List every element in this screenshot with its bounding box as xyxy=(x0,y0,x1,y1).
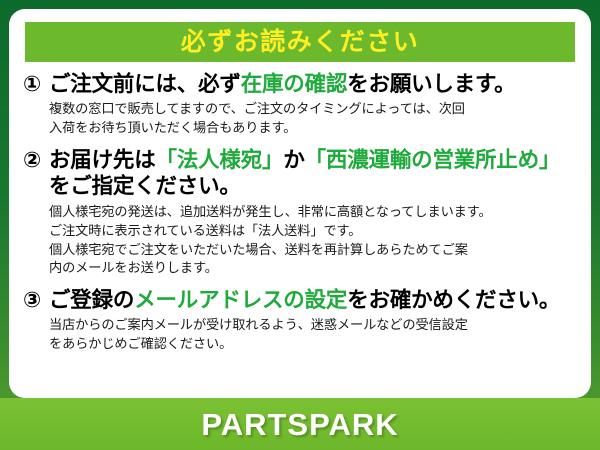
header-banner: 必ずお読みください xyxy=(25,22,575,62)
notice-item-1: ①ご注文前には、必ず在庫の確認をお願いします。 複数の窓口で販売してますので、ご… xyxy=(23,71,579,138)
notice-list: ①ご注文前には、必ず在庫の確認をお願いします。 複数の窓口で販売してますので、ご… xyxy=(9,71,591,354)
notice-item-1-heading-part-2: をお願いします。 xyxy=(347,72,515,96)
notice-item-3: ③ご登録のメールアドレスの設定をお確かめください。 当店からのご案内メールが受け… xyxy=(23,287,579,354)
notice-item-2-body-line-1: ご注文時に表示されている送料は「法人送料」です。 xyxy=(49,222,579,241)
notice-item-1-number: ① xyxy=(23,71,49,97)
notice-item-3-heading: ③ご登録のメールアドレスの設定をお確かめください。 xyxy=(23,287,579,313)
footer-banner: PARTSPARK xyxy=(0,398,600,450)
notice-item-3-body: 当店からのご案内メールが受け取れるよう、迷惑メールなどの受信設定 をあらかじめご… xyxy=(23,316,579,353)
brand-logo: PARTSPARK xyxy=(201,409,398,440)
notice-item-1-body: 複数の窓口で販売してますので、ご注文のタイミングによっては、次回 入荷をお待ち頂… xyxy=(23,100,579,137)
notice-item-2-body: 個人様宅宛の発送は、追加送料が発生し、非常に高額となってしまいます。 ご注文時に… xyxy=(23,203,579,278)
notice-item-3-number: ③ xyxy=(23,287,49,313)
notice-item-2-heading-part-1: 「法人様宛」 xyxy=(156,148,284,172)
notice-item-2-number: ② xyxy=(23,147,49,173)
notice-item-2-heading-part-3: 「西濃運輸の営業所止め」 xyxy=(305,148,561,172)
notice-item-3-heading-part-2: をお確かめください。 xyxy=(347,288,560,312)
notice-item-2-body-line-2: 個人様宅宛でご注文をいただいた場合、送料を再計算しあらためてご案 xyxy=(49,241,579,260)
notice-item-1-heading-part-0: ご注文前には、必ず xyxy=(49,72,241,96)
page-title: 必ずお読みください xyxy=(181,30,420,55)
notice-item-1-body-line-1: 入荷をお待ち頂いただく場合もあります。 xyxy=(49,119,579,138)
notice-item-2: ②お届け先は「法人様宛」か「西濃運輸の営業所止め」をご指定ください。 個人様宅宛… xyxy=(23,147,579,278)
notice-card: 必ずお読みください ①ご注文前には、必ず在庫の確認をお願いします。 複数の窓口で… xyxy=(0,0,600,450)
notice-item-3-body-line-1: をあらかじめご確認ください。 xyxy=(49,335,579,354)
notice-item-3-heading-part-1: メールアドレスの設定 xyxy=(134,288,347,312)
notice-panel: 必ずお読みください ①ご注文前には、必ず在庫の確認をお願いします。 複数の窓口で… xyxy=(9,9,591,398)
notice-item-3-body-line-0: 当店からのご案内メールが受け取れるよう、迷惑メールなどの受信設定 xyxy=(49,316,579,335)
notice-item-2-body-line-3: 内のメールをお送りします。 xyxy=(49,259,579,278)
notice-item-2-heading-part-2: か xyxy=(283,148,304,172)
notice-item-2-heading: ②お届け先は「法人様宛」か「西濃運輸の営業所止め」をご指定ください。 xyxy=(23,147,579,199)
notice-item-3-heading-part-0: ご登録の xyxy=(49,288,134,312)
notice-item-1-heading: ①ご注文前には、必ず在庫の確認をお願いします。 xyxy=(23,71,579,97)
notice-item-2-heading-part-0: お届け先は xyxy=(49,148,156,172)
notice-item-2-body-line-0: 個人様宅宛の発送は、追加送料が発生し、非常に高額となってしまいます。 xyxy=(49,203,579,222)
notice-item-1-heading-part-1: 在庫の確認 xyxy=(241,72,348,96)
notice-item-2-heading-part-4: をご指定ください。 xyxy=(49,174,241,198)
notice-item-1-body-line-0: 複数の窓口で販売してますので、ご注文のタイミングによっては、次回 xyxy=(49,100,579,119)
